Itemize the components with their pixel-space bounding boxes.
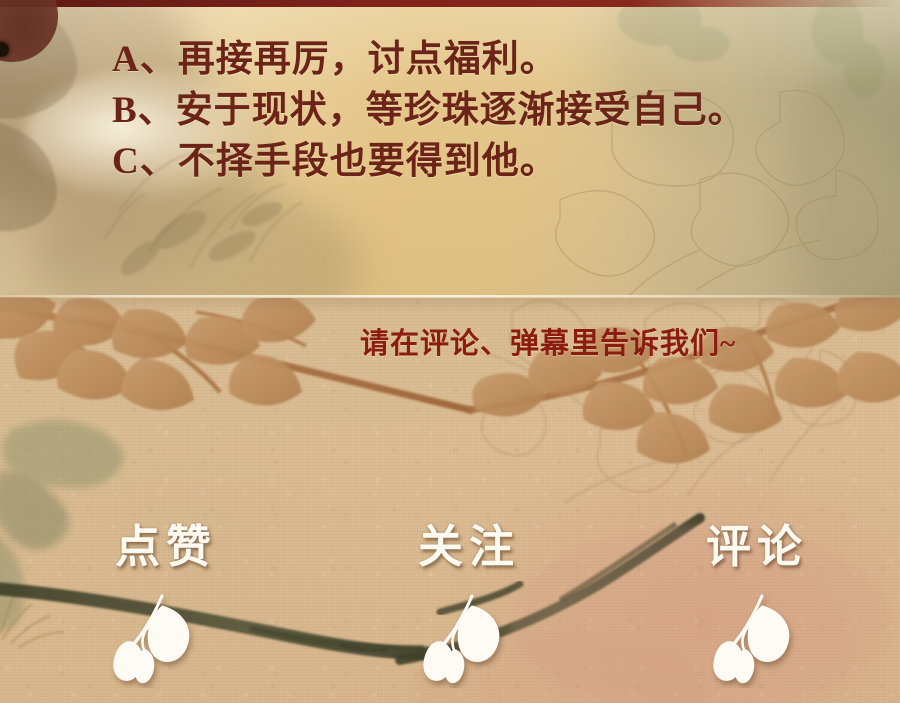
answer-option-a[interactable]: A、再接再厉，讨点福利。 <box>112 34 872 85</box>
comment-prompt-text: 请在评论、弹幕里告诉我们~ <box>360 320 736 362</box>
top-border-bar <box>0 0 900 7</box>
cta-label-comment[interactable]: 评论 <box>706 510 808 575</box>
cta-label-like[interactable]: 点赞 <box>115 510 217 575</box>
leaf-sprig-icon[interactable] <box>420 592 516 688</box>
leaf-sprig-icon[interactable] <box>710 592 806 688</box>
answer-option-b[interactable]: B、安于现状，等珍珠逐渐接受自己。 <box>112 85 872 136</box>
cta-label-follow[interactable]: 关注 <box>418 510 520 575</box>
answer-options-list: A、再接再厉，讨点福利。 B、安于现状，等珍珠逐渐接受自己。 C、不择手段也要得… <box>112 34 872 187</box>
slide-canvas: A、再接再厉，讨点福利。 B、安于现状，等珍珠逐渐接受自己。 C、不择手段也要得… <box>0 0 900 703</box>
answer-option-c[interactable]: C、不择手段也要得到他。 <box>112 136 872 187</box>
panel-divider-shadow <box>0 297 900 313</box>
leaf-sprig-icon[interactable] <box>110 592 206 688</box>
